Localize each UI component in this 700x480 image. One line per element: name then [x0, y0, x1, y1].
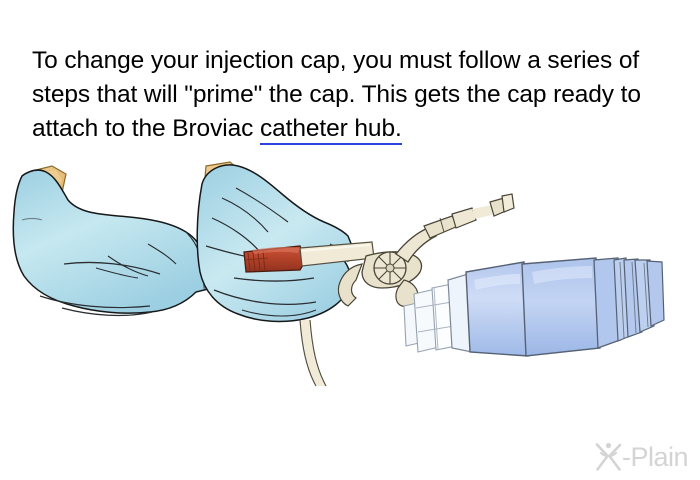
brand-logo: -Plain: [594, 440, 688, 474]
brand-wordmark: -Plain: [622, 444, 688, 471]
page-title: To change your injection cap, you must f…: [32, 44, 672, 146]
left-gloved-hand: [13, 166, 212, 315]
catheter-hub: [244, 246, 306, 272]
illustration: [0, 160, 700, 440]
catheter-hub-link[interactable]: catheter hub.: [260, 115, 402, 145]
injection-cap-closeup: [404, 258, 664, 356]
page-root: To change your injection cap, you must f…: [0, 0, 700, 480]
right-gloved-hand: [197, 162, 352, 321]
xplain-figure-icon: [594, 441, 624, 473]
